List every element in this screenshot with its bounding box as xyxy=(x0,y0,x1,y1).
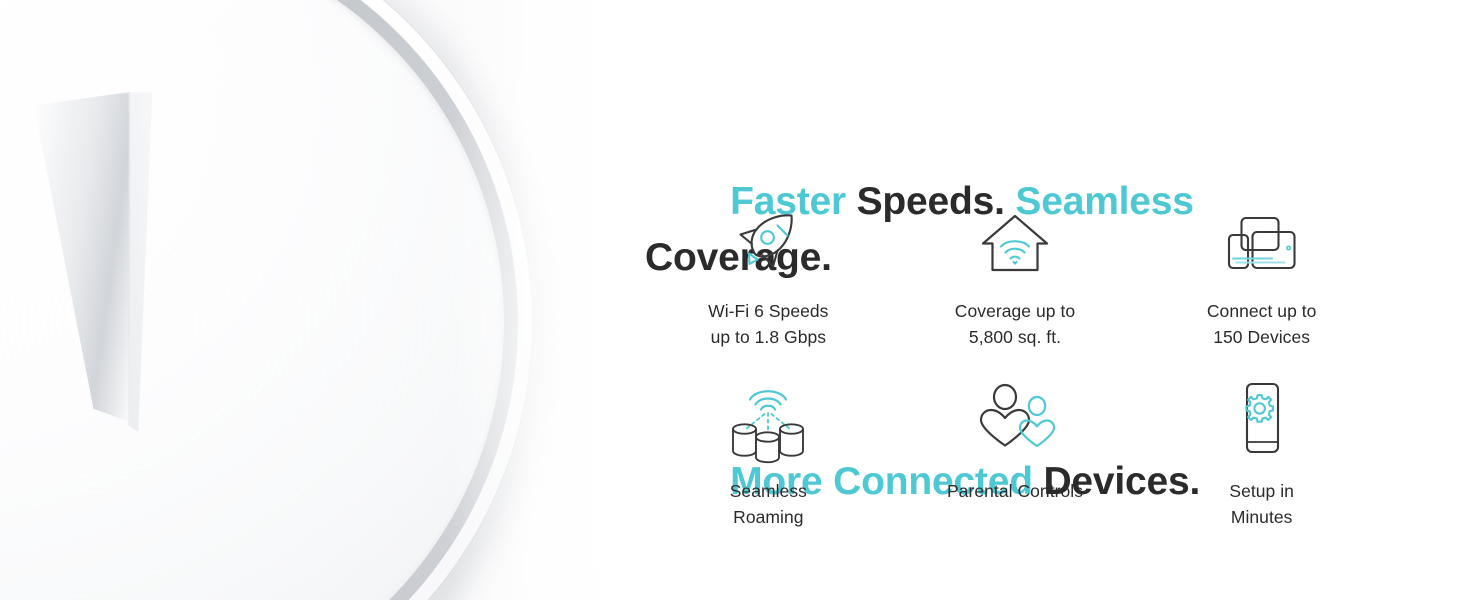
feature-item-roaming: Seamless Roaming xyxy=(645,378,892,550)
content-column: Faster Speeds. Seamless Coverage. More C… xyxy=(645,0,1405,600)
feature-label-devices: Connect up to 150 Devices xyxy=(1207,298,1317,350)
mesh-units-roaming-icon xyxy=(722,378,814,460)
feature-item-speeds: Wi-Fi 6 Speeds up to 1.8 Gbps xyxy=(645,206,892,378)
feature-banner: Faster Speeds. Seamless Coverage. More C… xyxy=(0,0,1464,600)
feature-label-coverage: Coverage up to 5,800 sq. ft. xyxy=(955,298,1075,350)
product-image xyxy=(0,0,620,600)
feature-item-parental: Parental Controls xyxy=(892,378,1139,550)
parent-child-hearts-icon xyxy=(975,378,1055,460)
feature-label-roaming: Seamless Roaming xyxy=(730,478,807,530)
feature-grid: Wi-Fi 6 Speeds up to 1.8 Gbps Coverage xyxy=(645,206,1385,550)
feature-item-setup: Setup in Minutes xyxy=(1138,378,1385,550)
image-fade-edge xyxy=(450,0,620,600)
feature-label-parental: Parental Controls xyxy=(947,478,1083,504)
multiple-devices-icon xyxy=(1224,206,1300,284)
rocket-icon xyxy=(729,206,807,284)
feature-item-devices: Connect up to 150 Devices xyxy=(1138,206,1385,378)
feature-label-setup: Setup in Minutes xyxy=(1229,478,1294,530)
house-wifi-icon xyxy=(979,206,1051,284)
feature-item-coverage: Coverage up to 5,800 sq. ft. xyxy=(892,206,1139,378)
feature-label-speeds: Wi-Fi 6 Speeds up to 1.8 Gbps xyxy=(708,298,828,350)
phone-gear-setup-icon xyxy=(1235,378,1289,460)
